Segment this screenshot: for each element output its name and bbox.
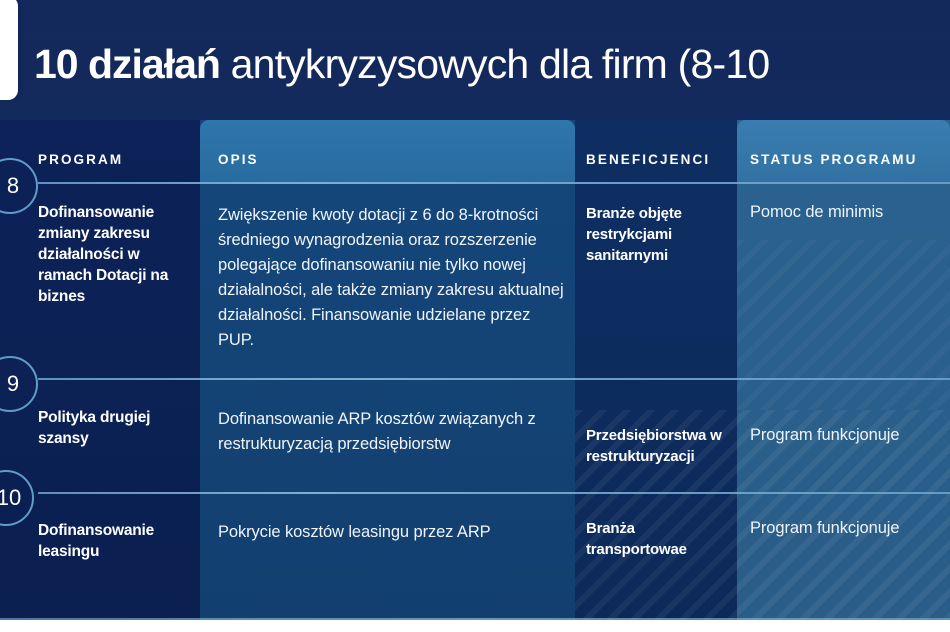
row-number-label: 9 — [7, 371, 19, 397]
cell-status: Program funkcjonuje — [750, 516, 948, 541]
cell-opis: Pokrycie kosztów leasingu przez ARP — [218, 520, 566, 545]
brand-tab — [0, 0, 18, 100]
cell-program: Dofinansowanie leasingu — [38, 520, 188, 562]
column-cap-opis — [200, 120, 575, 182]
cell-program: Dofinansowanie zmiany zakresu działalnoś… — [38, 202, 188, 307]
infographic-canvas: 10 działań antykryzysowych dla firm (8-1… — [0, 0, 950, 632]
header-band: 10 działań antykryzysowych dla firm (8-1… — [0, 0, 950, 120]
column-header-opis: OPIS — [218, 152, 259, 167]
column-header-program: PROGRAM — [38, 152, 123, 167]
row-divider-2 — [38, 492, 950, 494]
cell-beneficjenci: Branża transportowae — [586, 518, 736, 560]
row-divider-1 — [38, 378, 950, 380]
column-cap-status — [737, 120, 950, 182]
bottom-white-strip — [0, 620, 950, 632]
row-number-label: 8 — [7, 173, 19, 199]
row-number-label: 10 — [0, 485, 21, 511]
cell-beneficjenci: Przedsiębiorstwa w restrukturyzacji — [586, 425, 736, 467]
page-title: 10 działań antykryzysowych dla firm (8-1… — [34, 40, 769, 88]
cell-status: Program funkcjonuje — [750, 423, 948, 448]
programs-table: PROGRAM OPIS BENEFICJENCI STATUS PROGRAM… — [0, 120, 950, 620]
cell-opis: Dofinansowanie ARP kosztów związanych z … — [218, 407, 566, 457]
column-header-status: STATUS PROGRAMU — [750, 152, 918, 167]
page-title-emphasis: 10 działań — [34, 41, 220, 87]
cell-beneficjenci: Branże objęte restrykcjami sanitarnymi — [586, 203, 736, 266]
column-bg-opis — [200, 120, 575, 620]
cell-program: Polityka drugiej szansy — [38, 407, 188, 449]
row-divider-header — [38, 182, 950, 184]
column-header-beneficjenci: BENEFICJENCI — [586, 152, 710, 167]
cell-opis: Zwiększenie kwoty dotacji z 6 do 8-krotn… — [218, 203, 566, 353]
cell-status: Pomoc de minimis — [750, 200, 948, 225]
page-title-rest: antykryzysowych dla firm (8-10 — [220, 41, 769, 87]
column-bg-status — [737, 120, 950, 620]
